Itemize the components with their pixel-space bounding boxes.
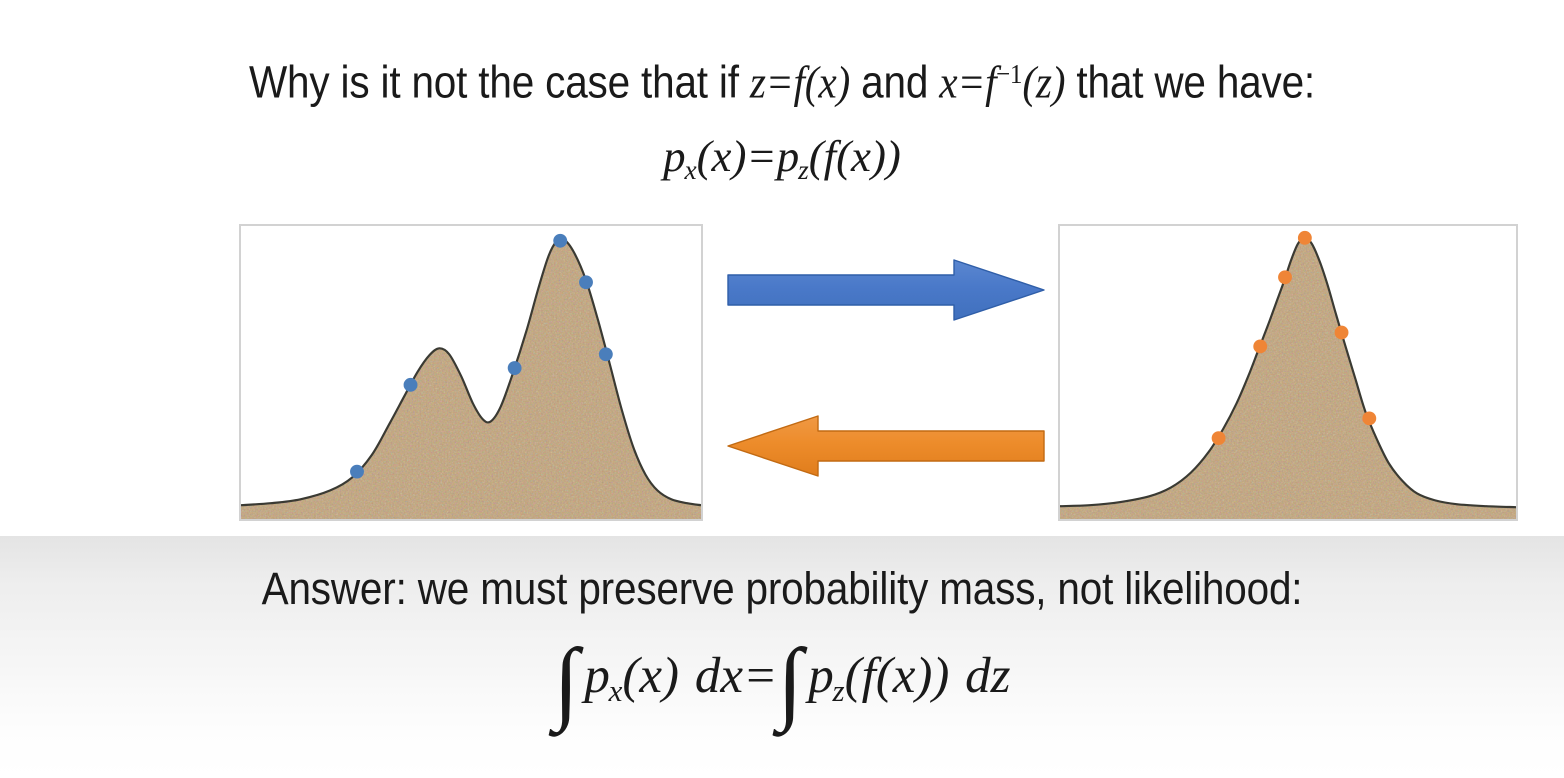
eq-top-lhs-subscript: x — [684, 155, 696, 185]
data-point-left-flank-high — [1278, 270, 1292, 284]
eq-bottom-integral-lhs: ∫ — [553, 631, 584, 733]
eq-bottom-rhs-differential: dz — [965, 648, 1010, 704]
question-math-z: z — [750, 57, 766, 108]
plot-distribution-x — [239, 224, 703, 521]
data-point-peak — [1298, 231, 1312, 245]
eq-bottom-lhs-arg: (x) — [622, 648, 679, 704]
question-suffix: that we have: — [1065, 57, 1315, 108]
data-point-right-flank-high — [1335, 326, 1349, 340]
question-equals-2: = — [957, 57, 985, 108]
question-math-fx: f(x) — [794, 57, 851, 108]
question-heading: Why is it not the case that if z=f(x) an… — [78, 44, 1486, 114]
question-middle: and — [850, 57, 939, 108]
question-math-finv-arg: (z) — [1022, 57, 1065, 108]
eq-bottom-lhs-differential: dx — [695, 648, 743, 704]
sand-texture-x — [241, 226, 701, 519]
forward-arrow-icon — [726, 258, 1046, 322]
eq-top-lhs-p: p — [663, 131, 685, 181]
data-point-left-flank-low — [1212, 431, 1226, 445]
question-math-x: x — [939, 57, 957, 108]
data-point-right-flank-mid — [1362, 411, 1376, 425]
answer-heading: Answer: we must preserve probability mas… — [78, 558, 1486, 620]
eq-bottom-lhs-subscript: x — [609, 673, 623, 708]
equation-probability-mass: ∫px(x) dx=∫pz(f(x)) dz — [0, 632, 1564, 734]
eq-top-rhs-subscript: z — [798, 155, 809, 185]
eq-top-rhs-p: p — [777, 131, 799, 181]
plot-distribution-z — [1058, 224, 1518, 521]
forward-transform-arrow[interactable] — [726, 258, 1046, 322]
backward-arrow-icon — [726, 414, 1046, 478]
data-point-right-mode-upslope — [508, 361, 522, 375]
distribution-z-area — [1060, 226, 1516, 519]
inverse-transform-arrow[interactable] — [726, 414, 1046, 478]
distribution-x-svg — [241, 226, 701, 519]
distribution-x-area — [241, 226, 701, 519]
eq-bottom-integral-rhs: ∫ — [777, 631, 808, 733]
data-point-right-tail — [599, 347, 613, 361]
data-point-left-mode-peak — [404, 378, 418, 392]
eq-top-lhs-arg: (x) — [697, 131, 747, 181]
question-math-finv: f — [985, 57, 996, 108]
question-math-finv-exponent: −1 — [996, 59, 1022, 90]
data-point-left-tail — [350, 465, 364, 479]
eq-top-equals: = — [746, 131, 776, 181]
distribution-z-svg — [1060, 226, 1516, 519]
eq-bottom-equals: = — [743, 648, 777, 704]
eq-bottom-rhs-subscript: z — [833, 673, 845, 708]
eq-bottom-rhs-arg: (f(x)) — [845, 648, 950, 704]
equation-likelihood: px(x)=pz(f(x)) — [0, 127, 1564, 199]
question-equals-1: = — [766, 57, 794, 108]
eq-top-rhs-arg: (f(x)) — [809, 131, 901, 181]
slide-canvas: Why is it not the case that if z=f(x) an… — [0, 0, 1564, 778]
data-point-right-mode-downslope — [579, 275, 593, 289]
data-point-left-flank-mid — [1253, 339, 1267, 353]
data-point-global-peak — [553, 234, 567, 248]
question-prefix: Why is it not the case that if — [249, 57, 750, 108]
eq-bottom-lhs-p: p — [584, 648, 610, 704]
eq-bottom-rhs-p: p — [808, 648, 834, 704]
